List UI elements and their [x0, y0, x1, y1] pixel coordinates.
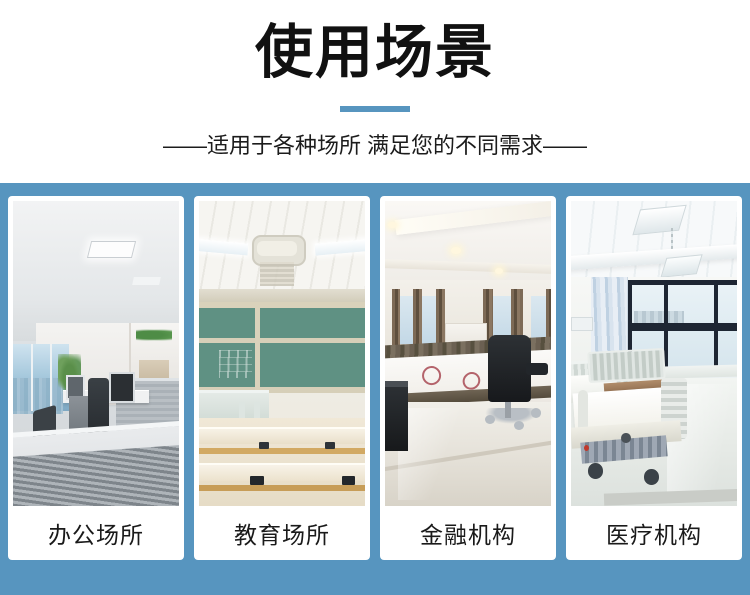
classroom-board-frame-mid — [199, 338, 365, 343]
office-monitor — [109, 372, 135, 403]
scene-showcase-page: 使用场景 ——适用于各种场所 满足您的不同需求—— — [0, 0, 750, 595]
hospital-photo — [571, 201, 737, 506]
bank-photo — [385, 201, 551, 506]
bank-foreground-unit — [385, 387, 408, 451]
bank-curtain — [436, 289, 444, 347]
office-photo — [13, 201, 179, 506]
classroom-desk-edge — [199, 448, 365, 454]
title-divider — [340, 106, 410, 112]
office-window-mullion — [31, 344, 33, 411]
bank-window — [422, 296, 437, 345]
hospital-bed-caster — [588, 463, 603, 478]
classroom-desk-bracket — [259, 442, 269, 449]
office-partition-grill — [13, 445, 179, 506]
classroom-desk-bracket — [342, 476, 355, 485]
bank-window — [398, 296, 413, 345]
classroom-projector-inner — [257, 241, 297, 256]
bank-chair-caster — [531, 408, 541, 417]
scene-cards-panel: 办公场所 — [0, 183, 750, 595]
page-header: 使用场景 ——适用于各种场所 满足您的不同需求—— — [0, 0, 750, 183]
classroom-desk-bracket — [250, 476, 263, 485]
classroom-chalk-writing — [219, 350, 252, 377]
scene-card-label: 教育场所 — [199, 506, 365, 560]
scene-card-label: 金融机构 — [385, 506, 551, 560]
classroom-chalkboard — [199, 302, 365, 394]
hospital-bed-headboard — [587, 348, 666, 383]
hospital-air-diffuser-icon — [660, 254, 703, 278]
classroom-desk-row — [199, 427, 365, 444]
bank-curtain — [413, 289, 421, 347]
page-subtitle: ——适用于各种场所 满足您的不同需求—— — [0, 130, 750, 162]
office-shelf-plant — [136, 329, 173, 341]
hospital-bed-caster — [644, 469, 659, 484]
bank-chair-armrest — [526, 363, 548, 375]
hospital-wall-panel — [571, 317, 593, 331]
bank-office-chair — [488, 335, 531, 402]
classroom-desk-edge — [199, 485, 365, 491]
classroom-board-frame-vertical — [255, 302, 260, 394]
bank-chair-caster — [485, 415, 495, 424]
office-ceiling — [13, 201, 179, 341]
scene-card-office[interactable]: 办公场所 — [8, 196, 184, 560]
scene-card-finance[interactable]: 金融机构 — [380, 196, 556, 560]
office-panel-light-icon — [87, 241, 136, 258]
bank-downlight-icon — [495, 268, 503, 274]
classroom-photo — [199, 201, 365, 506]
scene-card-label: 办公场所 — [13, 506, 179, 560]
classroom-board-frame-top — [199, 302, 365, 309]
classroom-projector-mount — [260, 262, 293, 286]
bank-curtain — [392, 289, 400, 347]
page-title: 使用场景 — [0, 14, 750, 92]
scene-card-label: 医疗机构 — [571, 506, 737, 560]
scene-card-education[interactable]: 教育场所 — [194, 196, 370, 560]
office-window-mullion — [50, 344, 52, 411]
scene-card-medical[interactable]: 医疗机构 — [566, 196, 742, 560]
hospital-bed-caster — [621, 433, 631, 444]
hospital-window-transom — [627, 323, 737, 331]
classroom-desk-row — [199, 463, 365, 480]
office-panel-light-secondary-icon — [132, 277, 160, 285]
classroom-desk-bracket — [325, 442, 335, 449]
